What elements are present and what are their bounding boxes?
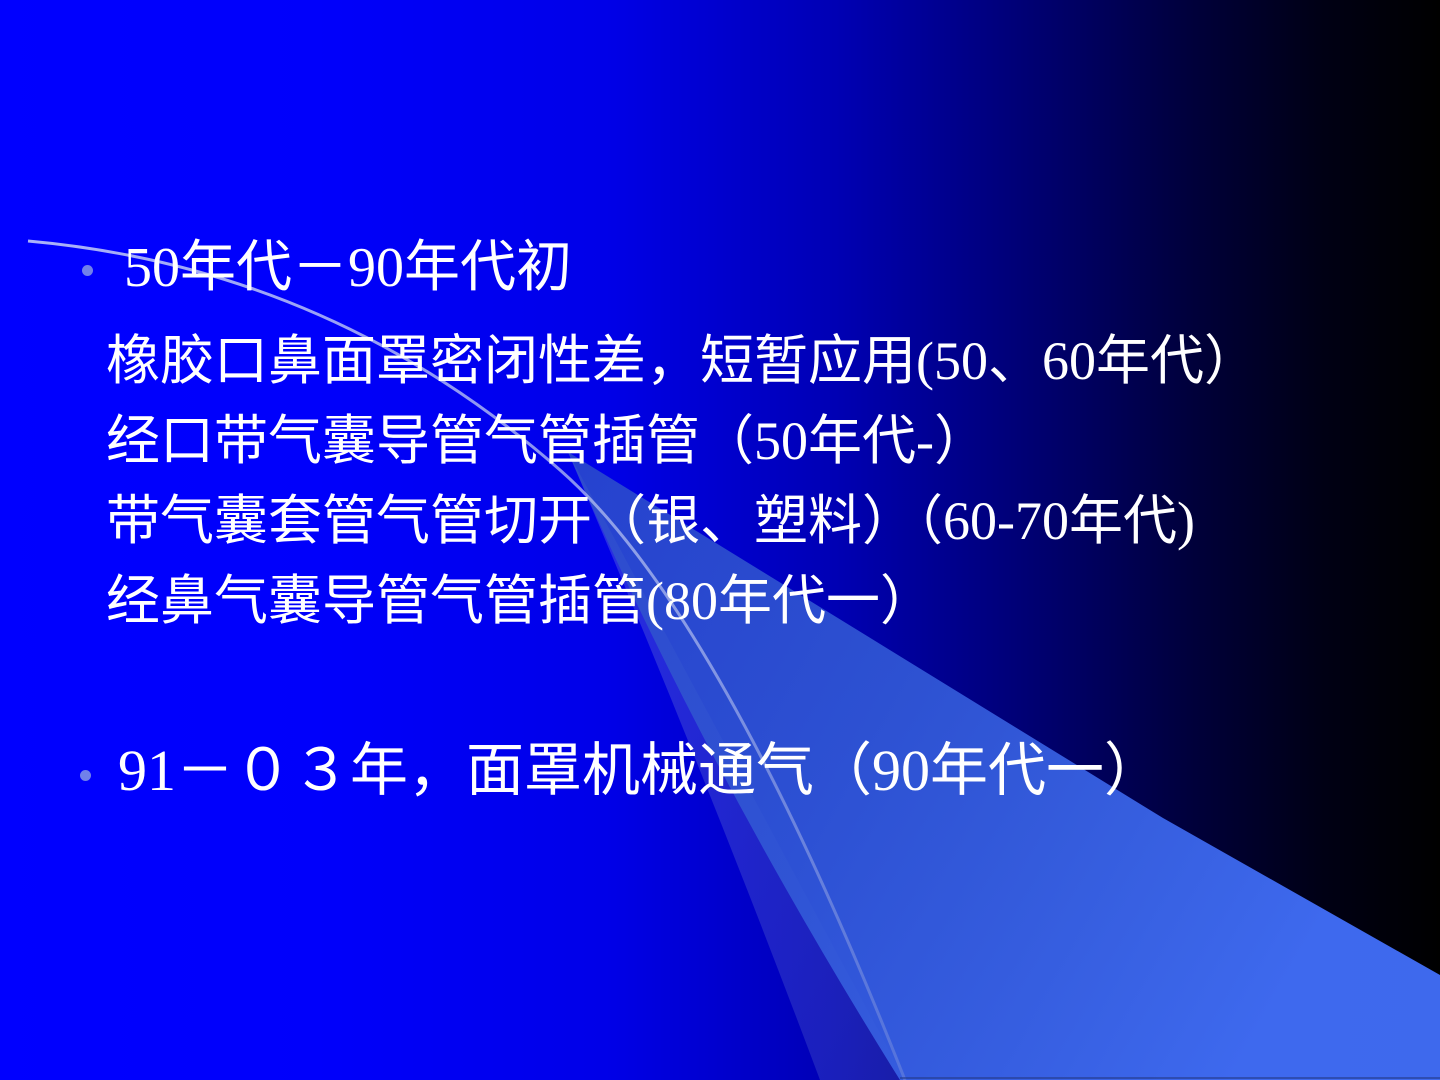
slide-content: 50年代－90年代初 橡胶口鼻面罩密闭性差，短暂应用(50、60年代） 经口带气… (0, 0, 1440, 1080)
bullet-1-line-4: 经鼻气囊导管气管插管(80年代一） (106, 574, 934, 628)
bullet-1-headline: 50年代－90年代初 (124, 240, 572, 296)
bullet-1-line-1: 橡胶口鼻面罩密闭性差，短暂应用(50、60年代） (106, 334, 1258, 388)
bullet-1-line-3: 带气囊套管气管切开（银、塑料）（60-70年代) (106, 494, 1195, 548)
bullet-dot-icon (82, 265, 93, 276)
bullet-dot-icon (80, 770, 91, 781)
bullet-1-line-2: 经口带气囊导管气管插管（50年代-） (106, 414, 988, 468)
bullet-2-headline: 91－０３年，面罩机械通气（90年代一） (118, 742, 1162, 800)
slide-canvas: 50年代－90年代初 橡胶口鼻面罩密闭性差，短暂应用(50、60年代） 经口带气… (0, 0, 1440, 1080)
